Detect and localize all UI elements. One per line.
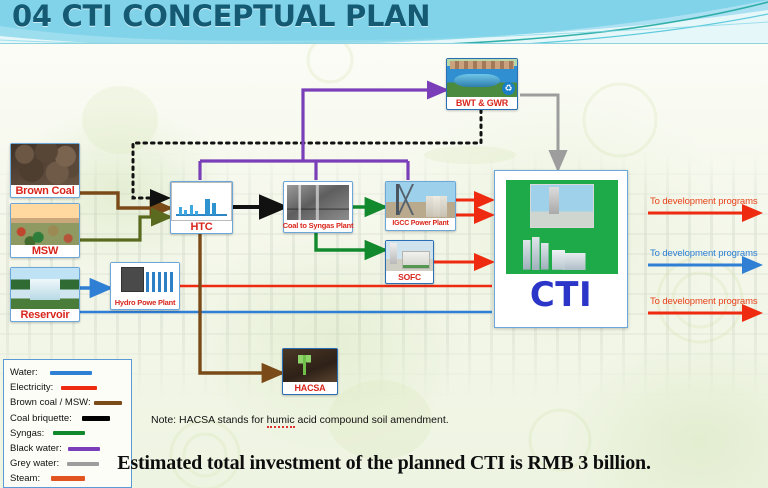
note-misspelled-word: humic [267,414,295,428]
node-label: Coal to Syngas Plant [281,220,356,232]
node-cti[interactable]: CTI [494,170,628,328]
cti-green-panel [506,180,618,274]
node-hacsa[interactable]: HACSA [282,348,338,395]
node-brown-coal[interactable]: Brown Coal [10,143,80,198]
cti-photo [530,184,594,228]
legend-swatch-electricity [61,386,97,390]
investment-statement: Estimated total investment of the planne… [0,452,768,475]
coal-to-syngas-thumbnail [287,185,349,220]
legend-swatch-water [50,371,92,375]
legend-swatch-brown-coal-msw [94,401,122,405]
legend-label: Syngas: [10,428,44,439]
legend-label: Water: [10,367,38,378]
cti-label: CTI [495,275,627,315]
recycle-icon: ♻ [502,82,515,95]
node-label: BWT & GWR [454,97,510,109]
node-reservoir[interactable]: Reservoir [10,267,80,322]
sofc-thumbnail [386,241,433,271]
msw-thumbnail [11,204,79,245]
node-label: Brown Coal [13,185,76,197]
igcc-thumbnail [386,182,455,218]
output-label-1: To development programs [650,196,758,207]
node-label: Reservoir [19,309,72,321]
node-label: HTC [188,221,214,233]
node-label: HACSA [292,382,327,394]
legend-label: Steam: [10,473,40,484]
node-coal-to-syngas-plant[interactable]: Coal to Syngas Plant [283,181,353,233]
note-prefix: Note: HACSA stands for [151,414,267,426]
node-label: IGCC Power Plant [390,218,450,230]
legend-item: Water: [10,365,131,380]
node-igcc-power-plant[interactable]: IGCC Power Plant [385,181,456,231]
slide-canvas: 04 CTI CONCEPTUAL PLAN [0,0,768,488]
output-label-2: To development programs [650,248,758,259]
legend-swatch-coal-briquette [82,416,110,421]
brown-coal-thumbnail [11,144,79,185]
legend-swatch-steam [51,476,85,481]
legend-label: Brown coal / MSW: [10,397,91,408]
node-label: Hydro Powe Plant [113,297,178,309]
legend-item: Brown coal / MSW: [10,395,131,410]
output-label-3: To development programs [650,296,758,307]
reservoir-thumbnail [11,268,79,309]
htc-thumbnail [171,182,232,221]
legend-label: Electricity: [10,382,53,393]
hacsa-thumbnail [283,349,337,382]
legend-label: Coal briquette: [10,413,72,424]
node-sofc[interactable]: SOFC [385,240,434,284]
note-suffix: acid compound soil amendment. [295,414,449,426]
legend-item: Electricity: [10,380,131,395]
legend-swatch-syngas [53,431,85,435]
hydro-power-plant-thumbnail [111,263,179,297]
node-htc[interactable]: HTC [170,181,233,234]
node-bwt-gwr[interactable]: BWT & GWR ♻ [446,58,518,110]
node-label: MSW [30,245,60,257]
legend-swatch-black-water [68,447,100,451]
note-text: Note: HACSA stands for humic acid compou… [151,414,449,426]
cti-plant-illustration [520,232,604,270]
node-hydro-power-plant[interactable]: Hydro Powe Plant [110,262,180,310]
node-msw[interactable]: MSW [10,203,80,258]
legend-item: Coal briquette: [10,411,131,426]
legend-item: Syngas: [10,426,131,441]
node-label: SOFC [396,271,423,283]
